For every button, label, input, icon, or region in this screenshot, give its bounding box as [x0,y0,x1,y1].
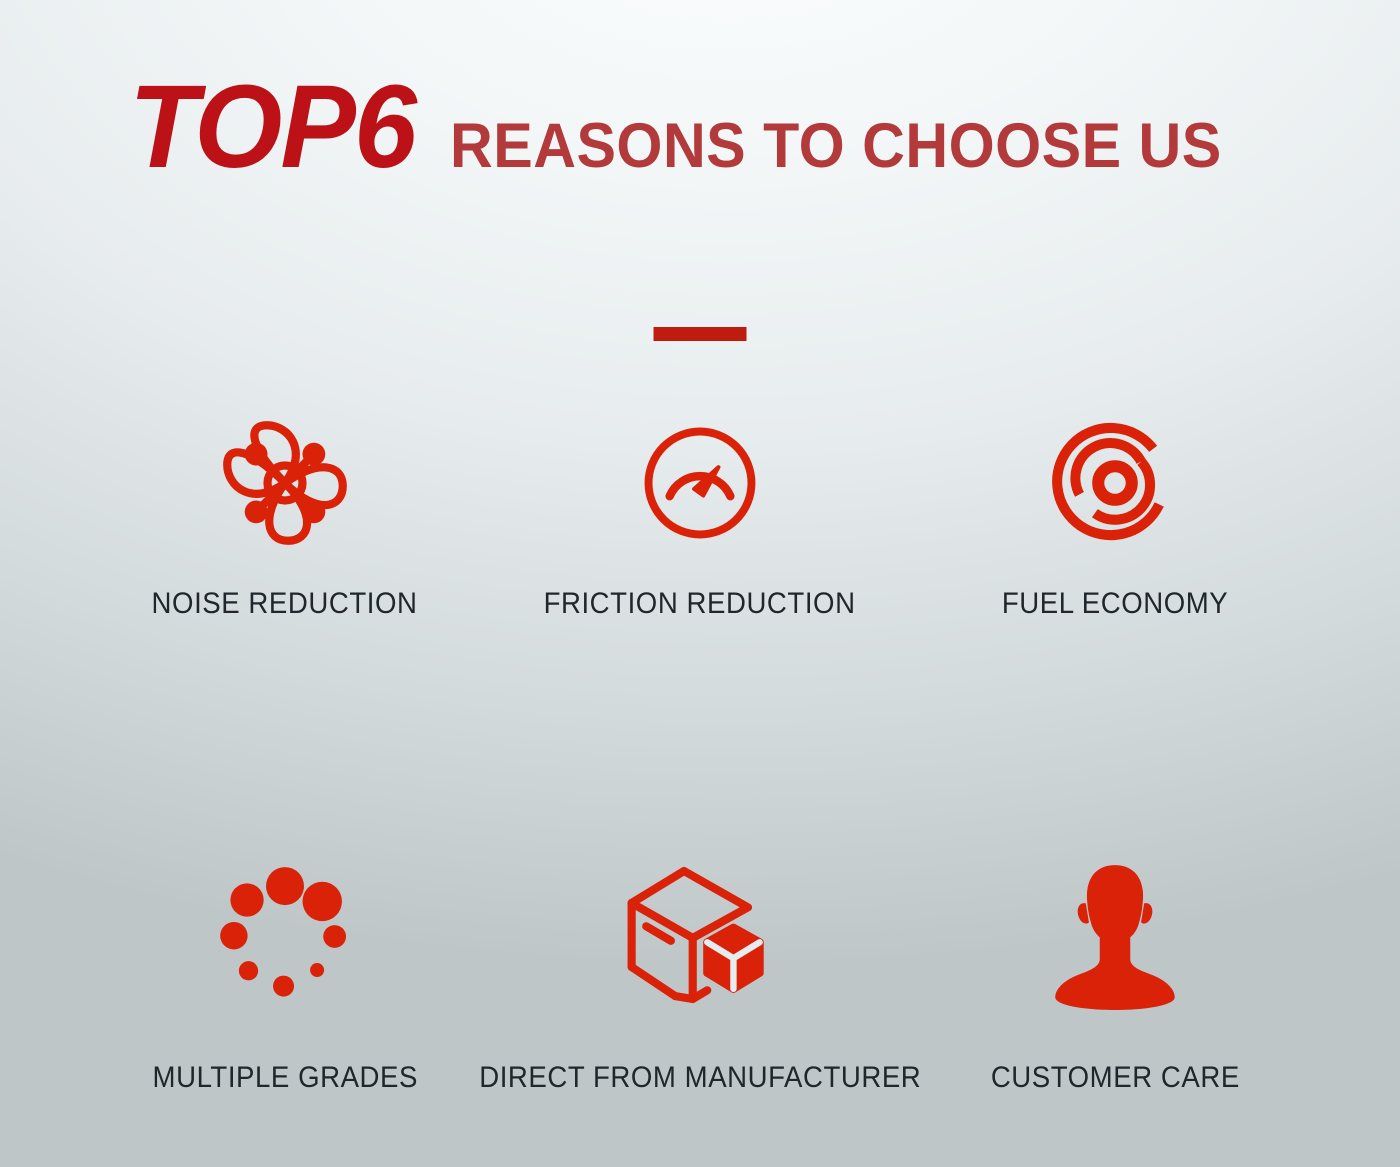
reason-label: MULTIPLE GRADES [152,1061,417,1095]
open-box-icon [620,845,780,1025]
atom-icon [209,400,361,565]
spiral-target-icon [1048,400,1182,565]
reason-label: FUEL ECONOMY [1002,587,1228,621]
reason-label: FRICTION REDUCTION [544,587,856,621]
reason-label: DIRECT FROM MANUFACTURER [479,1061,921,1095]
reason-item-noise-reduction[interactable]: NOISE REDUCTION [110,400,460,650]
poster: TOP6 REASONS TO CHOOSE US [0,0,1400,1167]
speedometer-icon [634,400,766,565]
reason-item-customer-care[interactable]: CUSTOMER CARE [940,845,1290,1095]
dot-spinner-icon [212,845,358,1025]
reason-item-friction-reduction[interactable]: FRICTION REDUCTION [460,400,941,650]
reasons-grid: NOISE REDUCTION FRICTION REDUCTION [110,400,1290,1095]
title-divider [654,327,747,341]
reason-item-multiple-grades[interactable]: MULTIPLE GRADES [110,845,460,1095]
title-highlight: TOP6 [129,68,415,186]
reason-item-fuel-economy[interactable]: FUEL ECONOMY [940,400,1290,650]
title-rest: REASONS TO CHOOSE US [450,115,1222,178]
person-silhouette-icon [1051,845,1179,1025]
page-title: TOP6 REASONS TO CHOOSE US [0,68,1400,186]
reason-label: CUSTOMER CARE [991,1061,1240,1095]
reason-label: NOISE REDUCTION [152,587,418,621]
reason-item-direct-from-manufacturer[interactable]: DIRECT FROM MANUFACTURER [460,845,941,1095]
